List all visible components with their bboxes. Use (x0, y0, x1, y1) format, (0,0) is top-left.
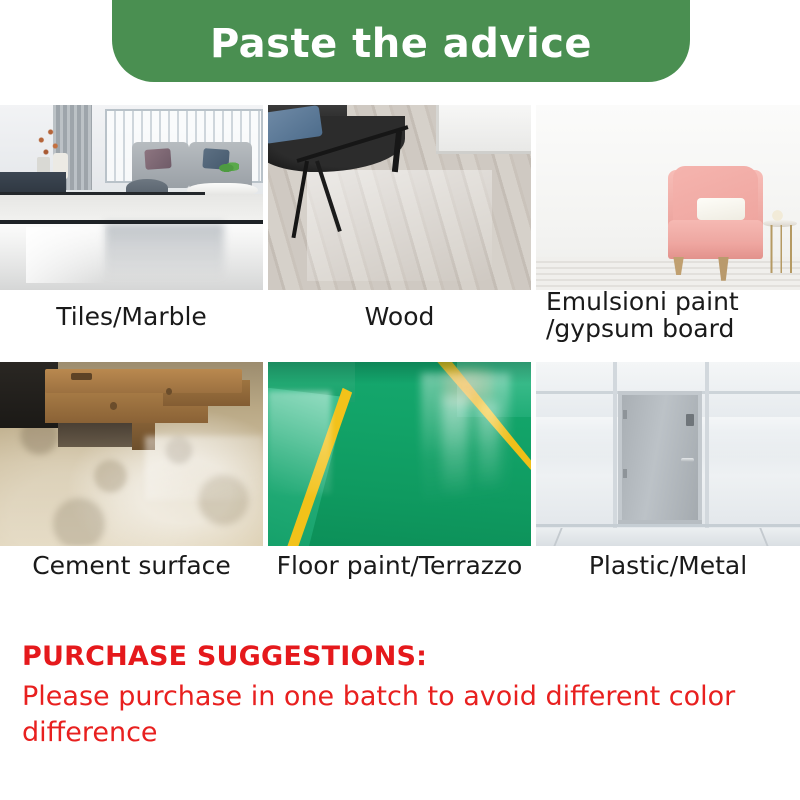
wall-skirting (436, 105, 531, 153)
panel-seam-vertical-right (705, 362, 709, 528)
floor-sheen-streak-2 (478, 402, 499, 490)
flower-bouquet (768, 209, 786, 222)
wood-floor-strip (536, 257, 800, 290)
caption-floor-paint: Floor paint/Terrazzo (268, 552, 531, 579)
floor-reflection-blur (105, 223, 223, 279)
floor-sheen-streak-1 (442, 395, 468, 498)
header-banner: Paste the advice (112, 0, 690, 82)
skirting-edge-horizontal (436, 151, 531, 154)
scene-wood-floor (268, 105, 531, 290)
scene-living-room-marble (0, 105, 263, 290)
panel-seam-horizontal-bottom (536, 524, 800, 527)
purchase-note-heading: PURCHASE SUGGESTIONS: (22, 641, 792, 673)
surface-image-cement (0, 362, 263, 546)
floor-gloss-highlight (145, 436, 263, 500)
surface-image-emulsion-paint (536, 105, 800, 290)
door-lock-plate (686, 414, 694, 427)
floor-gloss-left (268, 391, 331, 494)
scene-metal-panel-door (536, 362, 800, 546)
purchase-note: PURCHASE SUGGESTIONS: Please purchase in… (22, 641, 792, 751)
surface-image-wood (268, 105, 531, 290)
bench-knob-left (110, 402, 117, 409)
floor-inlay-band-upper (0, 192, 205, 195)
bench-handle (71, 373, 92, 380)
page-title: Paste the advice (210, 18, 592, 64)
surface-image-tiles-marble (0, 105, 263, 290)
caption-cement-surface: Cement surface (0, 552, 263, 579)
scene-cement-floor (0, 362, 263, 546)
chair-apron (668, 242, 763, 259)
pillow-mauve (144, 148, 172, 170)
door-hinge-top (623, 410, 627, 419)
panel-seam-vertical-left (613, 362, 617, 528)
side-table-legs (768, 225, 794, 273)
door-handle (681, 458, 694, 463)
purchase-note-body: Please purchase in one batch to avoid di… (22, 679, 792, 750)
floor-inlay-band-lower (0, 220, 263, 224)
skirting-edge-vertical (436, 105, 439, 153)
scene-green-epoxy-floor (268, 362, 531, 546)
scene-pink-armchair (536, 105, 800, 290)
door-hinge-bottom (623, 469, 627, 478)
caption-wood: Wood (268, 303, 531, 330)
caption-emulsion-paint: Emulsioni paint /gypsum board (546, 288, 800, 342)
surface-image-floor-paint (268, 362, 531, 546)
floor-gloss-highlight (26, 227, 105, 283)
caption-tiles-marble: Tiles/Marble (0, 303, 263, 330)
white-pillow (697, 198, 745, 220)
surface-image-plastic-metal (536, 362, 800, 546)
plant (218, 161, 239, 176)
caption-plastic-metal: Plastic/Metal (536, 552, 800, 579)
